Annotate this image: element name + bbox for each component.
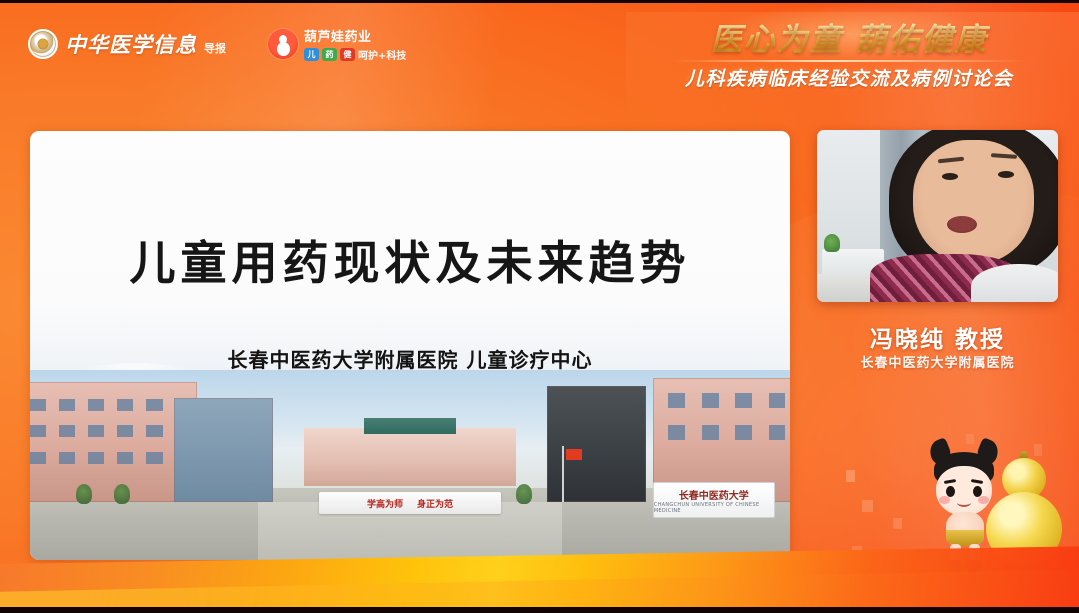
campus-tree <box>76 484 92 504</box>
broadcast-screen: 中华医学信息 导报 葫芦娃药业 儿 药 健 呵护+科技 医心为童 葫佑健康 儿科… <box>0 0 1079 613</box>
presentation-slide[interactable]: 儿童用药现状及未来趋势 长春中医药大学附属医院 儿童诊疗中心 长春中医药大学附属… <box>30 131 790 560</box>
logo-sponsor-name: 葫芦娃药业 <box>304 26 406 45</box>
sparkle-square <box>846 470 855 482</box>
gate-sign-left-text: 学高为师 <box>367 497 403 510</box>
letterbox-top <box>0 0 1079 3</box>
boy-mouth <box>957 498 971 507</box>
logo-sponsor-texts: 葫芦娃药业 儿 药 健 呵护+科技 <box>304 26 406 62</box>
campus-tree <box>516 484 532 504</box>
logo-sponsor-tagline: 儿 药 健 呵护+科技 <box>304 47 406 62</box>
event-headline: 医心为童 葫佑健康 <box>649 14 1049 59</box>
campus-tree <box>114 484 130 504</box>
webcam-person-mouth <box>947 216 977 233</box>
webcam-plant <box>824 234 840 252</box>
campus-building-left-2 <box>174 398 273 502</box>
webcam-person-shoulder <box>971 264 1058 302</box>
boy-cheek <box>939 496 950 504</box>
logo-huluwa-pharma: 葫芦娃药业 儿 药 健 呵护+科技 <box>268 26 406 62</box>
university-name-sign: 长春中医药大学 CHANGCHUN UNIVERSITY OF CHINESE … <box>653 482 775 518</box>
sponsor-logo-row: 中华医学信息 导报 葫芦娃药业 儿 药 健 呵护+科技 <box>28 26 406 62</box>
speaker-organization: 长春中医药大学附属医院 <box>817 352 1058 371</box>
campus-gate-sign: 学高为师 身正为范 <box>319 492 501 514</box>
logo-primary-suffix: 导报 <box>204 40 226 56</box>
sparkle-square <box>862 500 873 512</box>
boy-cheek <box>978 496 989 504</box>
logo-china-medical-info-herald: 中华医学信息 导报 <box>28 29 226 59</box>
campus-photo: 学高为师 身正为范 长春中医药大学 CHANGCHUN UNIVERSITY O… <box>30 370 790 560</box>
boy-eye <box>946 486 955 497</box>
campus-building-center-top <box>364 418 455 434</box>
event-subhead: 儿科疾病临床经验交流及病例讨论会 <box>649 64 1049 91</box>
university-sign-en: CHANGCHUN UNIVERSITY OF CHINESE MEDICINE <box>654 502 774 514</box>
university-sign-cn: 长春中医药大学 <box>679 487 749 502</box>
sponsor-chip-icon: 健 <box>340 48 355 61</box>
sponsor-chip-icon: 药 <box>322 48 337 61</box>
event-banner: 医心为童 葫佑健康 儿科疾病临床经验交流及病例讨论会 <box>649 14 1049 91</box>
gourd-flame-icon <box>268 29 298 59</box>
sparkle-square <box>893 518 902 529</box>
flag-icon <box>566 449 582 460</box>
speaker-name: 冯晓纯 教授 <box>817 320 1058 354</box>
slide-title: 儿童用药现状及未来趋势 <box>30 227 790 293</box>
campus-building-left <box>30 382 197 502</box>
logo-sponsor-slogan: 呵护+科技 <box>358 47 406 62</box>
banner-underline <box>673 60 1025 62</box>
flag-pole <box>562 446 564 502</box>
campus-building-center <box>304 428 517 486</box>
webcam-person-face <box>913 140 1034 264</box>
sponsor-chip-icon: 儿 <box>304 48 319 61</box>
seal-emblem-icon <box>28 29 58 59</box>
letterbox-bottom <box>0 607 1079 613</box>
gate-sign-right-text: 身正为范 <box>417 497 453 510</box>
logo-primary-name: 中华医学信息 <box>65 29 197 59</box>
speaker-webcam-video[interactable] <box>817 130 1058 302</box>
boy-face <box>936 466 992 516</box>
